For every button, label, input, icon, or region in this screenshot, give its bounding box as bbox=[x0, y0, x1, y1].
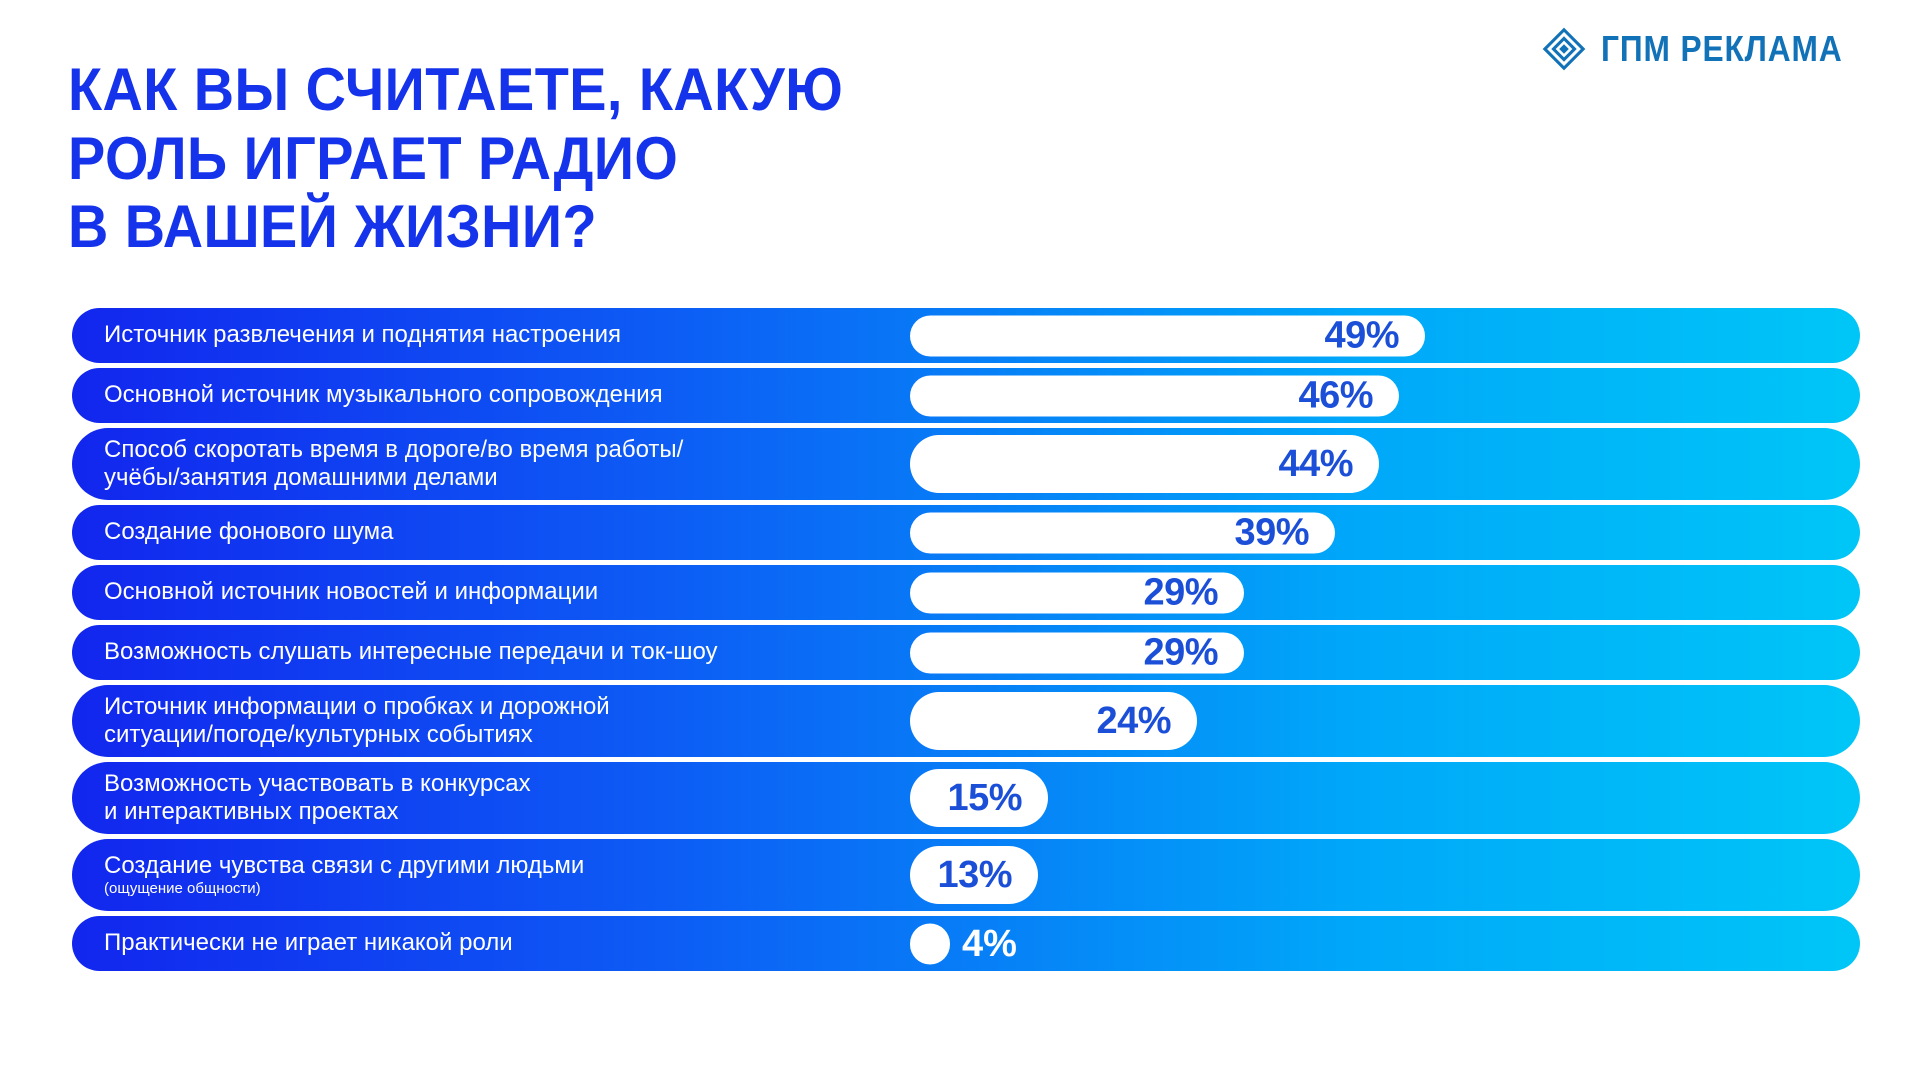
bar-row: Основной источник музыкального сопровожд… bbox=[72, 368, 1860, 423]
bar-row: Источник развлечения и поднятия настроен… bbox=[72, 308, 1860, 363]
bar-label: Создание чувства связи с другими людьми(… bbox=[104, 852, 584, 898]
rhombus-diamond-icon bbox=[1541, 26, 1587, 72]
bar-row: Создание чувства связи с другими людьми(… bbox=[72, 839, 1860, 911]
value-label: 46% bbox=[1298, 377, 1373, 415]
bar-chart: Источник развлечения и поднятия настроен… bbox=[72, 308, 1860, 971]
value-pill: 39% bbox=[910, 512, 1335, 553]
bar-row: Источник информации о пробках и дорожной… bbox=[72, 685, 1860, 757]
bar-row: Основной источник новостей и информации2… bbox=[72, 565, 1860, 620]
bar-row: Практически не играет никакой роли4% bbox=[72, 916, 1860, 971]
value-pill: 29% bbox=[910, 632, 1244, 673]
brand-logo: ГПМ РЕКЛАМА bbox=[1541, 26, 1876, 72]
bar-label: Возможность участвовать в конкурсах и ин… bbox=[104, 770, 531, 826]
value-pill: 29% bbox=[910, 572, 1244, 613]
header: КАК ВЫ СЧИТАЕТЕ, КАКУЮ РОЛЬ ИГРАЕТ РАДИО… bbox=[0, 0, 1920, 255]
bar-row: Создание фонового шума39% bbox=[72, 505, 1860, 560]
value-pill: 13% bbox=[910, 846, 1038, 904]
value-pill: 15% bbox=[910, 769, 1048, 827]
value-label: 44% bbox=[1278, 445, 1353, 483]
bar-row: Способ скоротать время в дороге/во время… bbox=[72, 428, 1860, 500]
value-label: 13% bbox=[937, 856, 1012, 894]
value-pill: 49% bbox=[910, 315, 1425, 356]
page-title: КАК ВЫ СЧИТАЕТЕ, КАКУЮ РОЛЬ ИГРАЕТ РАДИО… bbox=[68, 56, 1091, 261]
bar-label: Практически не играет никакой роли bbox=[104, 929, 513, 957]
value-pill: 24% bbox=[910, 692, 1197, 750]
bar-label: Основной источник музыкального сопровожд… bbox=[104, 381, 663, 409]
bar-row: Возможность слушать интересные передачи … bbox=[72, 625, 1860, 680]
value-label: 4% bbox=[962, 925, 1017, 963]
bar-label: Создание фонового шума bbox=[104, 518, 394, 546]
brand-logo-text: ГПМ РЕКЛАМА bbox=[1601, 31, 1843, 67]
bar-label: Способ скоротать время в дороге/во время… bbox=[104, 436, 683, 492]
value-label: 15% bbox=[947, 779, 1022, 817]
value-pill bbox=[910, 923, 950, 964]
value-pill: 44% bbox=[910, 435, 1379, 493]
bar-row: Возможность участвовать в конкурсах и ин… bbox=[72, 762, 1860, 834]
value-label: 39% bbox=[1234, 514, 1309, 552]
value-label: 29% bbox=[1143, 574, 1218, 612]
bar-sublabel: (ощущение общности) bbox=[104, 881, 584, 898]
value-label: 24% bbox=[1096, 702, 1171, 740]
value-label: 29% bbox=[1143, 634, 1218, 672]
bar-label: Источник развлечения и поднятия настроен… bbox=[104, 321, 621, 349]
value-label: 49% bbox=[1324, 317, 1399, 355]
bar-label: Источник информации о пробках и дорожной… bbox=[104, 693, 610, 749]
bar-label: Возможность слушать интересные передачи … bbox=[104, 638, 718, 666]
bar-label: Основной источник новостей и информации bbox=[104, 578, 598, 606]
value-pill: 46% bbox=[910, 375, 1399, 416]
